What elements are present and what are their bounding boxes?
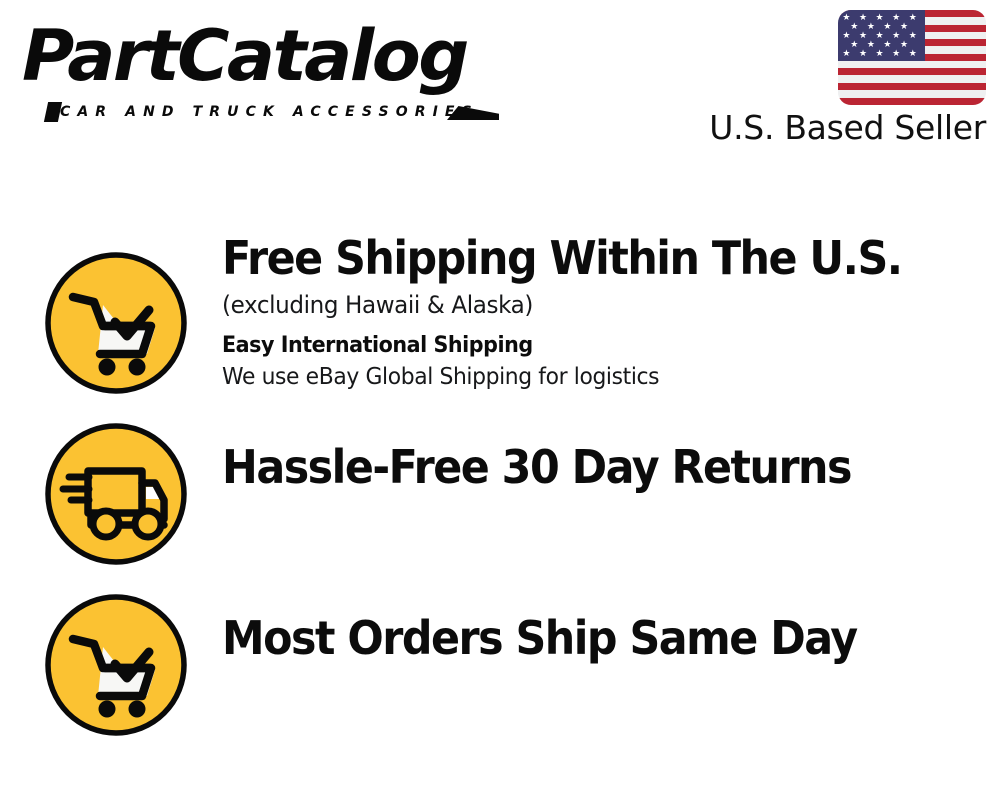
flag-canton: ★ ★ ★ ★ ★ ★ ★ ★ ★ ★ ★ ★ ★ ★ ★ ★ ★ ★ ★ ★ [838, 10, 925, 61]
feature-headline: Hassle-Free 30 Day Returns [222, 441, 910, 493]
brand-tagline: CAR AND TRUCK ACCESSORIES [60, 104, 479, 120]
brand-wordmark: PartCatalog [22, 18, 467, 94]
feature-headline: Most Orders Ship Same Day [222, 612, 910, 664]
feature-text-block: Most Orders Ship Same Day [222, 612, 962, 664]
shipping-info-banner: PartCatalog CAR AND TRUCK ACCESSORIES ★ … [0, 0, 1000, 800]
us-based-seller-block: ★ ★ ★ ★ ★ ★ ★ ★ ★ ★ ★ ★ ★ ★ ★ ★ ★ ★ ★ ★ [706, 10, 986, 147]
feature-subline: (excluding Hawaii & Alaska) [222, 290, 932, 320]
us-flag-icon: ★ ★ ★ ★ ★ ★ ★ ★ ★ ★ ★ ★ ★ ★ ★ ★ ★ ★ ★ ★ [838, 10, 986, 105]
shopping-cart-check-icon [43, 592, 189, 738]
brand-logo: PartCatalog CAR AND TRUCK ACCESSORIES [22, 18, 492, 118]
feature-subhead: Easy International Shipping [222, 332, 918, 360]
feature-headline: Free Shipping Within The U.S. [222, 232, 910, 284]
feature-text-block: Hassle-Free 30 Day Returns [222, 441, 962, 493]
feature-text-block: Free Shipping Within The U.S. (excluding… [222, 232, 962, 392]
shopping-cart-check-icon [43, 250, 189, 396]
feature-row: Free Shipping Within The U.S. (excluding… [0, 232, 1000, 403]
feature-row: Hassle-Free 30 Day Returns [0, 403, 1000, 574]
us-based-seller-label: U.S. Based Seller [706, 109, 986, 147]
feature-subnote: We use eBay Global Shipping for logistic… [222, 362, 925, 392]
feature-row: Most Orders Ship Same Day [0, 574, 1000, 745]
delivery-truck-icon [43, 421, 189, 567]
feature-list: Free Shipping Within The U.S. (excluding… [0, 232, 1000, 745]
